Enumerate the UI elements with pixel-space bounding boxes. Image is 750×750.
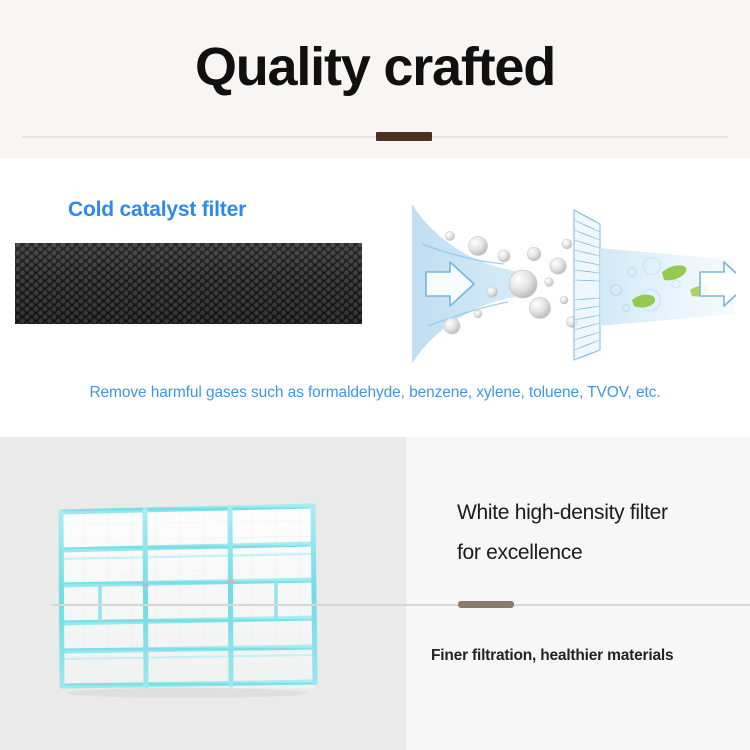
white-filter-photo-panel — [0, 437, 406, 750]
white-filter-heading: White high-density filter for excellence — [457, 493, 747, 573]
filter-mesh-screen — [574, 210, 600, 360]
product-detail-page: Quality crafted Cold catalyst filter — [0, 0, 750, 750]
white-filter-heading-line2: for excellence — [457, 533, 747, 573]
header-divider — [22, 136, 728, 138]
page-title: Quality crafted — [0, 36, 750, 98]
header-band: Quality crafted — [0, 0, 750, 158]
cold-catalyst-section: Cold catalyst filter — [0, 158, 750, 437]
white-filter-text-panel: White high-density filter for excellence — [406, 437, 750, 750]
header-accent-bar — [376, 132, 432, 141]
cold-catalyst-title: Cold catalyst filter — [68, 198, 246, 222]
carbon-sheen-overlay — [15, 243, 362, 324]
cold-catalyst-caption: Remove harmful gases such as formaldehyd… — [0, 384, 750, 402]
white-filter-section: White high-density filter for excellence… — [0, 437, 750, 750]
airflow-diagram — [404, 204, 736, 364]
white-high-density-filter-photo — [44, 499, 329, 699]
white-filter-heading-line1: White high-density filter — [457, 493, 747, 533]
carbon-filter-photo — [15, 243, 362, 324]
